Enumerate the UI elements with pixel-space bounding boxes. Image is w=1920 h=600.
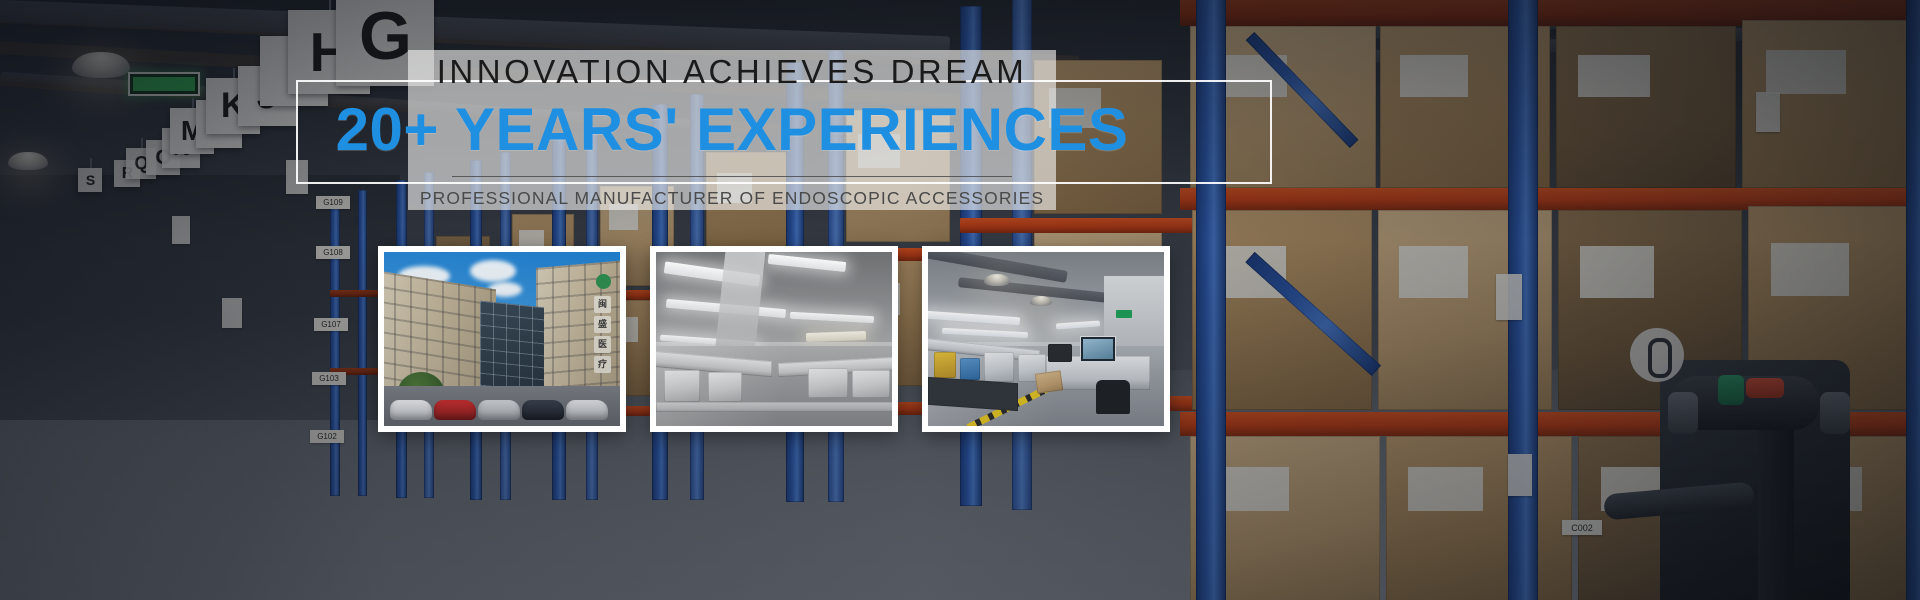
bin-tag-G107: G107: [314, 318, 348, 331]
cloud: [470, 260, 516, 282]
shelf-card: [222, 298, 242, 328]
headline-main: 20+ YEARS' EXPERIENCES: [336, 100, 1129, 160]
production-machine: [984, 352, 1014, 382]
exit-sign-icon: [1116, 310, 1132, 318]
shelf-card: [1496, 274, 1522, 320]
parked-car: [478, 400, 520, 420]
stored-carton: [1556, 26, 1736, 188]
work-bench: [656, 402, 892, 412]
headline-tagline: INNOVATION ACHIEVES DREAM: [437, 55, 1028, 88]
parked-car: [522, 400, 564, 420]
robot-arm: [934, 352, 956, 378]
carton-on-floor: [1035, 370, 1064, 393]
shelf-card: [1508, 454, 1532, 496]
facility-thumbnail-strip: 闽 盛 医 疗: [378, 246, 1170, 432]
truck-control-button: [1718, 375, 1744, 405]
ceiling-lamp: [984, 274, 1010, 286]
rack-upright: [1906, 0, 1920, 600]
signage-char: 闽: [594, 296, 611, 313]
shelf-card: [1756, 92, 1780, 132]
bin-tag-G109: G109: [316, 196, 350, 209]
rack-upright: [1196, 0, 1226, 600]
electric-pallet-truck: [1580, 280, 1880, 600]
parked-car: [566, 400, 608, 420]
aisle-sign-S: S: [78, 168, 102, 192]
signage-char: 盛: [594, 316, 611, 333]
parked-car: [390, 400, 432, 420]
bin-tag-G108: G108: [316, 246, 350, 259]
truck-grip-left: [1668, 392, 1698, 434]
computer-monitor: [1080, 336, 1116, 362]
ceiling-lamp: [1030, 296, 1052, 306]
office-chair: [1096, 380, 1130, 414]
thumbnail-workshop-image: [928, 252, 1164, 426]
signage-char: 医: [594, 336, 611, 353]
production-machine: [960, 358, 980, 380]
stored-carton: [1386, 436, 1572, 600]
production-machine: [664, 370, 700, 402]
thumbnail-cleanroom[interactable]: [650, 246, 898, 432]
truck-emergency-button: [1746, 378, 1784, 398]
company-logo-mark: [596, 274, 611, 289]
thumbnail-workshop[interactable]: [922, 246, 1170, 432]
thumbnail-cleanroom-image: [656, 252, 892, 426]
truck-display: [1630, 328, 1684, 382]
headline-divider: [452, 176, 1012, 177]
truck-mast: [1758, 410, 1794, 600]
production-machine: [852, 370, 890, 398]
thumbnail-building[interactable]: 闽 盛 医 疗: [378, 246, 626, 432]
truck-grip-right: [1820, 392, 1850, 434]
headline-subtitle: PROFESSIONAL MANUFACTURER OF ENDOSCOPIC …: [420, 190, 1044, 208]
thumbnail-building-image: 闽 盛 医 疗: [384, 252, 620, 426]
printer: [1048, 344, 1072, 362]
bin-tag-G102: G102: [310, 430, 344, 443]
production-machine: [708, 372, 742, 402]
shelf-card: [172, 216, 190, 244]
shelf-card: [286, 160, 308, 194]
company-profile-banner: S R Q O N M L K J I H G G109 G108 G107 G…: [0, 0, 1920, 600]
production-machine: [808, 368, 848, 398]
bin-tag-G103: G103: [312, 372, 346, 385]
headline-block: INNOVATION ACHIEVES DREAM 20+ YEARS' EXP…: [408, 50, 1056, 210]
signage-char: 疗: [594, 356, 611, 373]
parked-car: [434, 400, 476, 420]
